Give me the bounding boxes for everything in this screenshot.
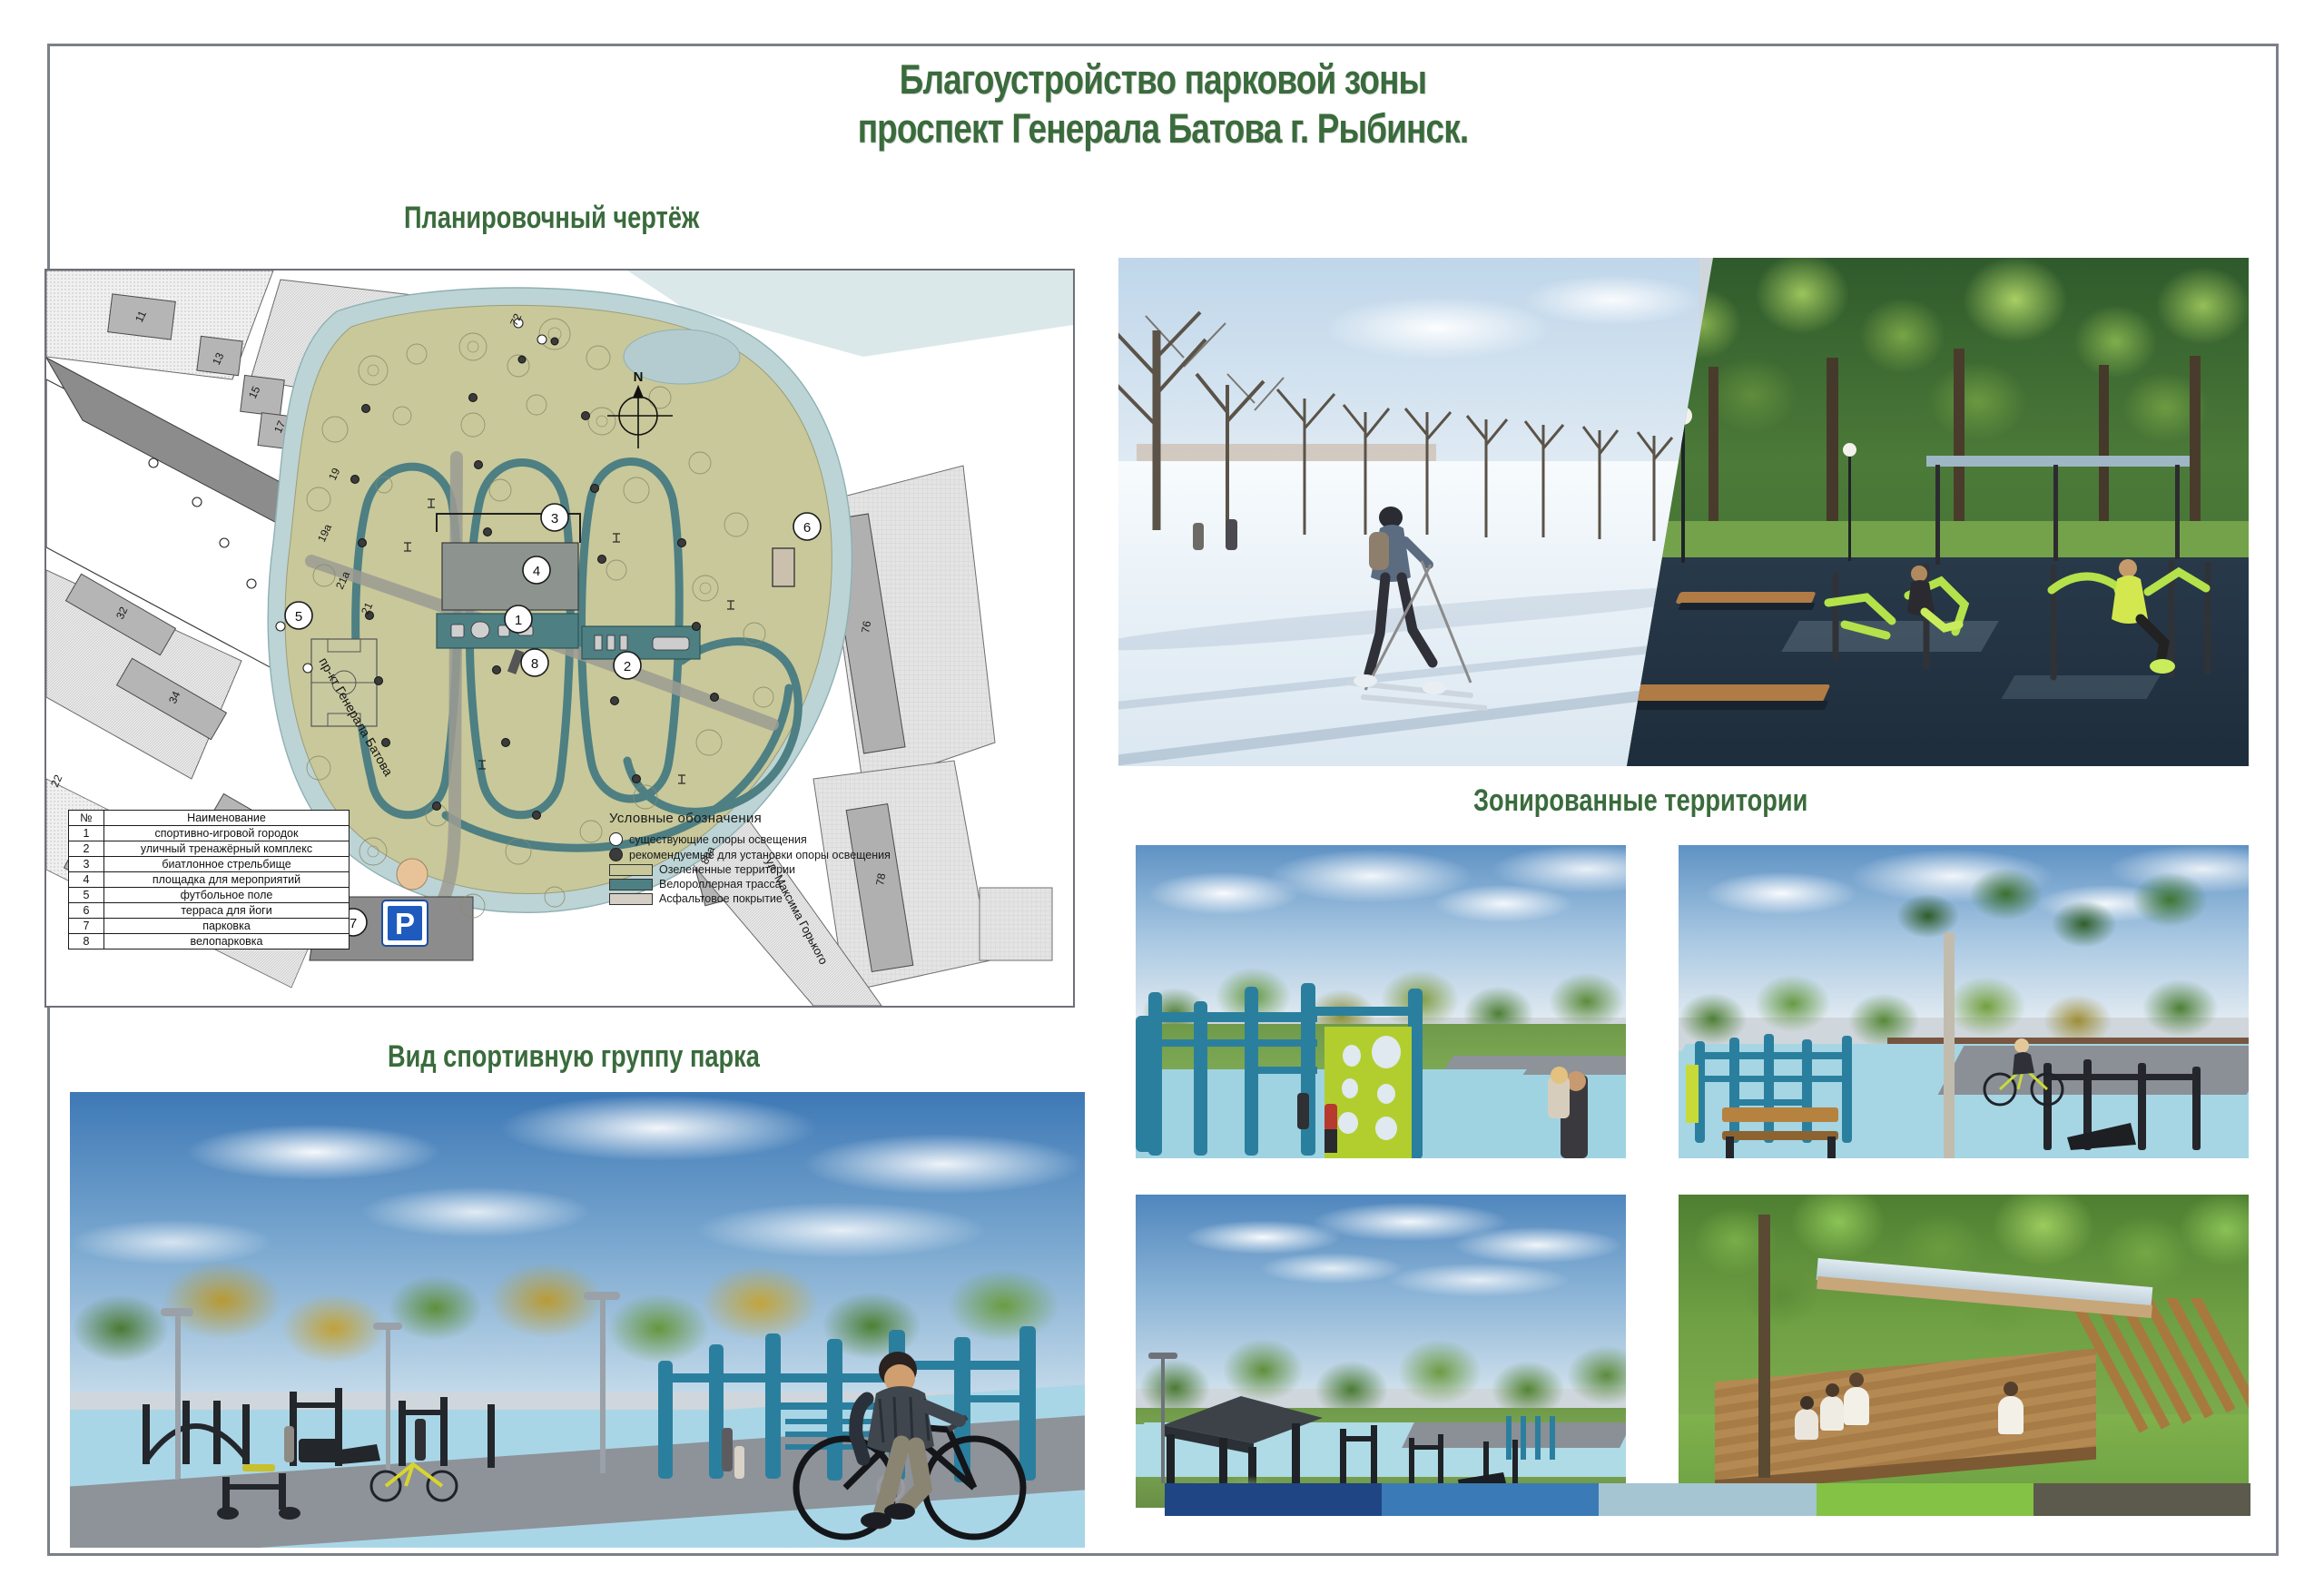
table-row: 8велопарковка <box>69 934 350 950</box>
plan-legend-table: № Наименование 1спортивно-игровой городо… <box>68 810 350 950</box>
table-header-row: № Наименование <box>69 811 350 826</box>
table-row: 5футбольное поле <box>69 888 350 903</box>
convention-item: существующие опоры освещения <box>609 832 909 846</box>
svg-text:7: 7 <box>350 916 357 931</box>
legend-row-name: велопарковка <box>104 934 350 950</box>
svg-text:P: P <box>395 907 415 940</box>
conventions-title: Условные обозначения <box>609 811 909 826</box>
photo-sport-group <box>70 1092 1085 1548</box>
photo-top-banner <box>1118 258 2249 766</box>
photo-yoga-terrace <box>1679 1195 2249 1508</box>
palette-swatch <box>1817 1483 2033 1516</box>
legend-swatch <box>609 879 653 890</box>
convention-label: Асфальтовое покрытие <box>659 892 783 905</box>
legend-row-number: 8 <box>69 934 104 950</box>
convention-item: рекомендуемые для установки опоры освеще… <box>609 848 909 861</box>
legend-row-number: 5 <box>69 888 104 903</box>
svg-text:1: 1 <box>515 613 522 628</box>
convention-label: Велороллерная трасса <box>659 878 782 890</box>
svg-text:4: 4 <box>533 564 540 579</box>
winter-skiing-scene <box>1118 258 1699 766</box>
legend-row-number: 1 <box>69 826 104 841</box>
legend-row-name: площадка для мероприятий <box>104 872 350 888</box>
legend-row-name: спортивно-игровой городок <box>104 826 350 841</box>
page-title-line1: Благоустройство парковой зоны <box>251 55 2076 104</box>
legend-row-name: футбольное поле <box>104 888 350 903</box>
legend-row-number: 2 <box>69 841 104 857</box>
section-title-sport-view: Вид спортивную группу парка <box>388 1039 760 1075</box>
svg-text:76: 76 <box>859 620 873 635</box>
legend-row-name: биатлонное стрельбище <box>104 857 350 872</box>
convention-label: существующие опоры освещения <box>629 833 807 846</box>
legend-row-name: парковка <box>104 919 350 934</box>
foreground-exercise-machine <box>213 1451 331 1524</box>
svg-text:5: 5 <box>295 609 302 625</box>
parked-bicycle <box>366 1448 466 1504</box>
photo-event-pavilion <box>1136 1195 1626 1508</box>
summer-gym-scene <box>1627 258 2249 766</box>
plan-conventions: Условные обозначения существующие опоры … <box>609 811 909 907</box>
svg-text:3: 3 <box>551 511 558 526</box>
board-frame: Благоустройство парковой зоны проспект Г… <box>47 44 2279 1556</box>
col-header-num: № <box>69 811 104 826</box>
legend-row-number: 7 <box>69 919 104 934</box>
svg-text:N: N <box>634 369 644 385</box>
presentation-board: Благоустройство парковой зоны проспект Г… <box>0 0 2324 1594</box>
svg-text:8: 8 <box>531 656 538 672</box>
table-row: 4площадка для мероприятий <box>69 872 350 888</box>
legend-swatch <box>609 864 653 876</box>
photo-workout-area <box>1679 845 2249 1158</box>
convention-label: Озелененные территории <box>659 863 795 876</box>
table-row: 7парковка <box>69 919 350 934</box>
legend-row-number: 3 <box>69 857 104 872</box>
table-row: 3биатлонное стрельбище <box>69 857 350 872</box>
page-title: Благоустройство парковой зоны проспект Г… <box>251 55 2076 153</box>
legend-row-number: 6 <box>69 903 104 919</box>
color-palette-bar <box>1165 1483 2250 1516</box>
legend-row-name: уличный тренажёрный комплекс <box>104 841 350 857</box>
palette-swatch <box>1599 1483 1816 1516</box>
convention-item: Велороллерная трасса <box>609 878 909 890</box>
page-title-line2: проспект Генерала Батова г. Рыбинск. <box>251 104 2076 153</box>
convention-item: Асфальтовое покрытие <box>609 892 909 905</box>
lighting-pole-icon <box>609 832 623 846</box>
table-row: 2уличный тренажёрный комплекс <box>69 841 350 857</box>
svg-text:6: 6 <box>803 520 811 536</box>
photo-playground <box>1136 845 1626 1158</box>
cyclist-figure <box>1978 1037 2069 1109</box>
outdoor-gym-equipment <box>1781 512 2249 721</box>
legend-swatch <box>609 893 653 905</box>
slatted-wall <box>2040 1298 2249 1498</box>
convention-label: рекомендуемые для установки опоры освеще… <box>629 849 891 861</box>
lighting-pole-icon <box>609 848 623 861</box>
table-row: 6терраса для йоги <box>69 903 350 919</box>
parking-sign: P <box>382 900 428 946</box>
section-title-zoned: Зонированные территории <box>1473 783 1807 819</box>
legend-row-number: 4 <box>69 872 104 888</box>
legend-row-name: терраса для йоги <box>104 903 350 919</box>
skier-figure <box>1333 501 1487 728</box>
section-title-plan: Планировочный чертёж <box>404 201 699 236</box>
palette-swatch <box>1165 1483 1382 1516</box>
col-header-name: Наименование <box>104 811 350 826</box>
convention-item: Озелененные территории <box>609 863 909 876</box>
svg-text:2: 2 <box>624 659 631 674</box>
palette-swatch <box>1382 1483 1599 1516</box>
site-plan-drawing: 1 2 3 4 5 6 7 8 P <box>44 269 1075 1008</box>
foreground-cyclist <box>789 1343 1034 1548</box>
palette-swatch <box>2033 1483 2250 1516</box>
table-row: 1спортивно-игровой городок <box>69 826 350 841</box>
